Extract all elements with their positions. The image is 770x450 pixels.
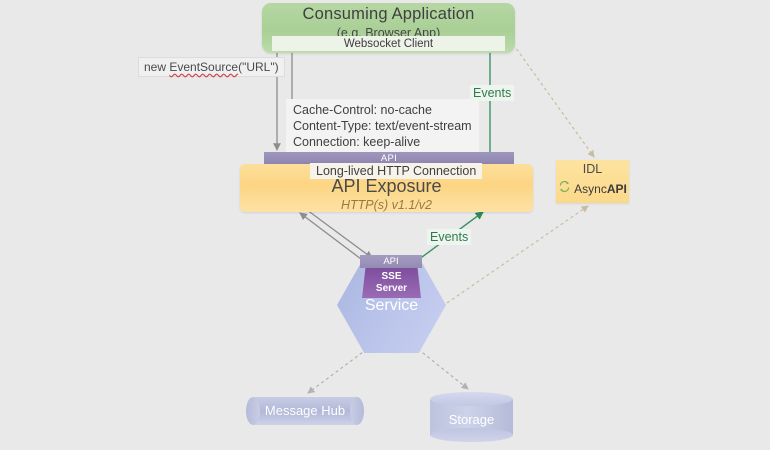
service-api-bidirectional bbox=[300, 213, 365, 262]
header-cache-control: Cache-Control: no-cache bbox=[293, 102, 472, 118]
eventsource-prefix: new bbox=[144, 60, 169, 74]
sse-headers-note: Cache-Control: no-cache Content-Type: te… bbox=[286, 99, 479, 154]
service-api-bidirectional bbox=[303, 207, 372, 258]
storage-label: Storage bbox=[430, 412, 513, 427]
eventsource-call-label: new EventSource("URL") bbox=[138, 57, 285, 77]
message-hub-shape: Message Hub bbox=[246, 397, 364, 425]
idl-box: IDL AsyncAPI bbox=[556, 160, 629, 203]
service-api-bar: API bbox=[360, 255, 422, 268]
websocket-client-bar: Websocket Client bbox=[272, 36, 505, 51]
service-to-idl bbox=[447, 206, 588, 303]
service-label: Service bbox=[337, 297, 446, 315]
asyncapi-sync-icon bbox=[558, 180, 571, 198]
eventsource-keyword: EventSource bbox=[169, 60, 238, 74]
service-to-storage bbox=[418, 349, 468, 389]
connector-layer bbox=[0, 0, 770, 450]
asyncapi-word-light: Async bbox=[574, 182, 607, 196]
asyncapi-logo-row: AsyncAPI bbox=[556, 180, 629, 198]
storage-bottom-ellipse bbox=[430, 428, 513, 442]
message-hub-label: Message Hub bbox=[246, 403, 364, 418]
diagram-canvas: Consuming Application (e.g. Browser App)… bbox=[0, 0, 770, 450]
api-exposure-title: API Exposure bbox=[240, 176, 533, 197]
api-exposure-subtitle: HTTP(s) v1.1/v2 bbox=[240, 198, 533, 212]
eventsource-suffix: ("URL") bbox=[238, 60, 279, 74]
long-lived-http-connection-label: Long-lived HTTP Connection bbox=[310, 163, 482, 179]
header-content-type: Content-Type: text/event-stream bbox=[293, 118, 472, 134]
asyncapi-wordmark: AsyncAPI bbox=[574, 182, 627, 196]
consuming-application-title: Consuming Application bbox=[262, 5, 515, 24]
events-label-bottom: Events bbox=[427, 229, 471, 245]
sse-server-line1: SSE bbox=[381, 271, 401, 283]
storage-shape: Storage bbox=[430, 392, 513, 442]
service-to-message-hub bbox=[308, 349, 367, 393]
header-connection: Connection: keep-alive bbox=[293, 134, 472, 150]
idl-title: IDL bbox=[556, 162, 629, 176]
storage-top-ellipse bbox=[430, 392, 513, 406]
events-label-top: Events bbox=[470, 85, 514, 101]
consuming-app-to-idl bbox=[513, 44, 594, 157]
sse-server-box: SSE Server bbox=[362, 267, 421, 298]
sse-server-line2: Server bbox=[376, 283, 407, 295]
asyncapi-word-bold: API bbox=[607, 182, 627, 196]
